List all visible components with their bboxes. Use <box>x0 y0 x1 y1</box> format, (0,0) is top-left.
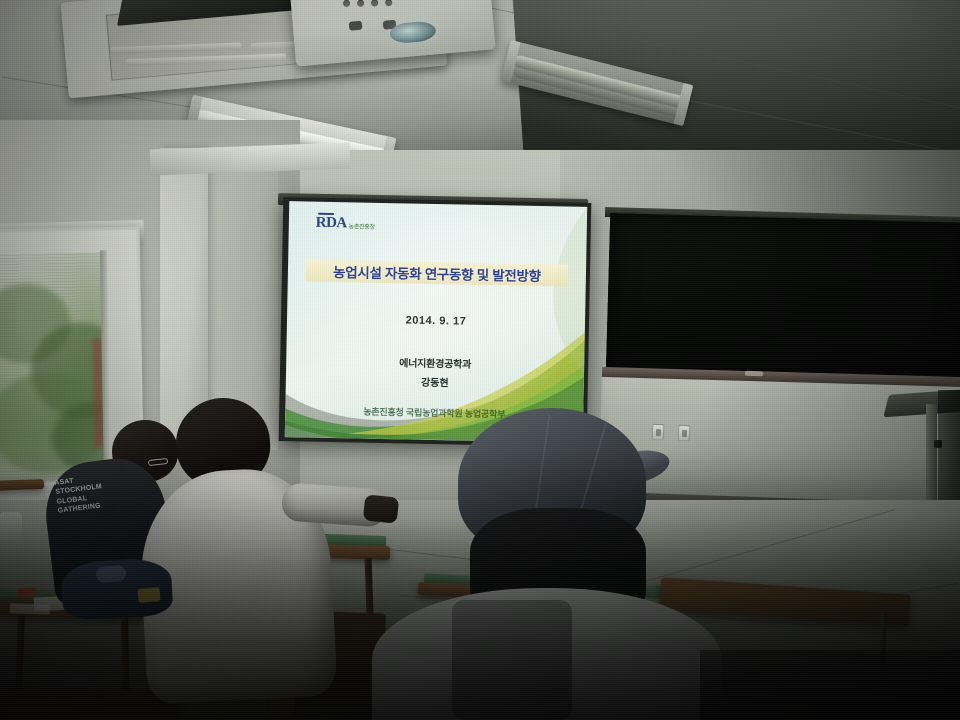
projector-led <box>357 0 365 7</box>
slide-title-band: 농업시설 자동화 연구동향 및 발전방향 <box>306 259 569 286</box>
slide-title: 농업시설 자동화 연구동향 및 발전방향 <box>333 261 541 285</box>
bag-handle[interactable] <box>95 565 126 583</box>
shirt-print: ASATSTOCKHOLMGLOBALGATHERING <box>54 473 105 516</box>
rda-logo: RDA 농촌진흥청 <box>316 216 375 232</box>
desk-top <box>0 479 44 491</box>
bag-tag <box>137 587 160 603</box>
blackboard <box>606 213 960 381</box>
foreground-shadow <box>700 650 960 720</box>
rda-logo-mark: RDA <box>316 216 347 232</box>
slide-arc-graphic <box>420 204 587 372</box>
hand <box>363 494 400 523</box>
water-bottle[interactable] <box>0 512 22 546</box>
projector-led <box>343 0 351 7</box>
projector-led <box>385 0 393 7</box>
wall-outlet[interactable] <box>652 424 665 440</box>
desk-item[interactable] <box>18 587 37 597</box>
classroom-scene: RDA 농촌진흥청 농업시설 자동화 연구동향 및 발전방향 2014. 9. … <box>0 0 960 720</box>
chalk-piece[interactable] <box>745 371 763 377</box>
projector-lens-icon <box>389 20 437 44</box>
collar-shadow <box>452 600 572 720</box>
wooden-bench <box>0 690 180 720</box>
projector-led <box>371 0 379 7</box>
projector-foot <box>349 21 363 31</box>
paper-sheet[interactable] <box>10 603 50 614</box>
rda-logo-korean: 농촌진흥청 <box>349 221 375 230</box>
insect-screen <box>0 252 107 481</box>
wall-outlet[interactable] <box>678 425 691 441</box>
slide-canvas: RDA 농촌진흥청 농업시설 자동화 연구동향 및 발전방향 2014. 9. … <box>285 201 587 443</box>
